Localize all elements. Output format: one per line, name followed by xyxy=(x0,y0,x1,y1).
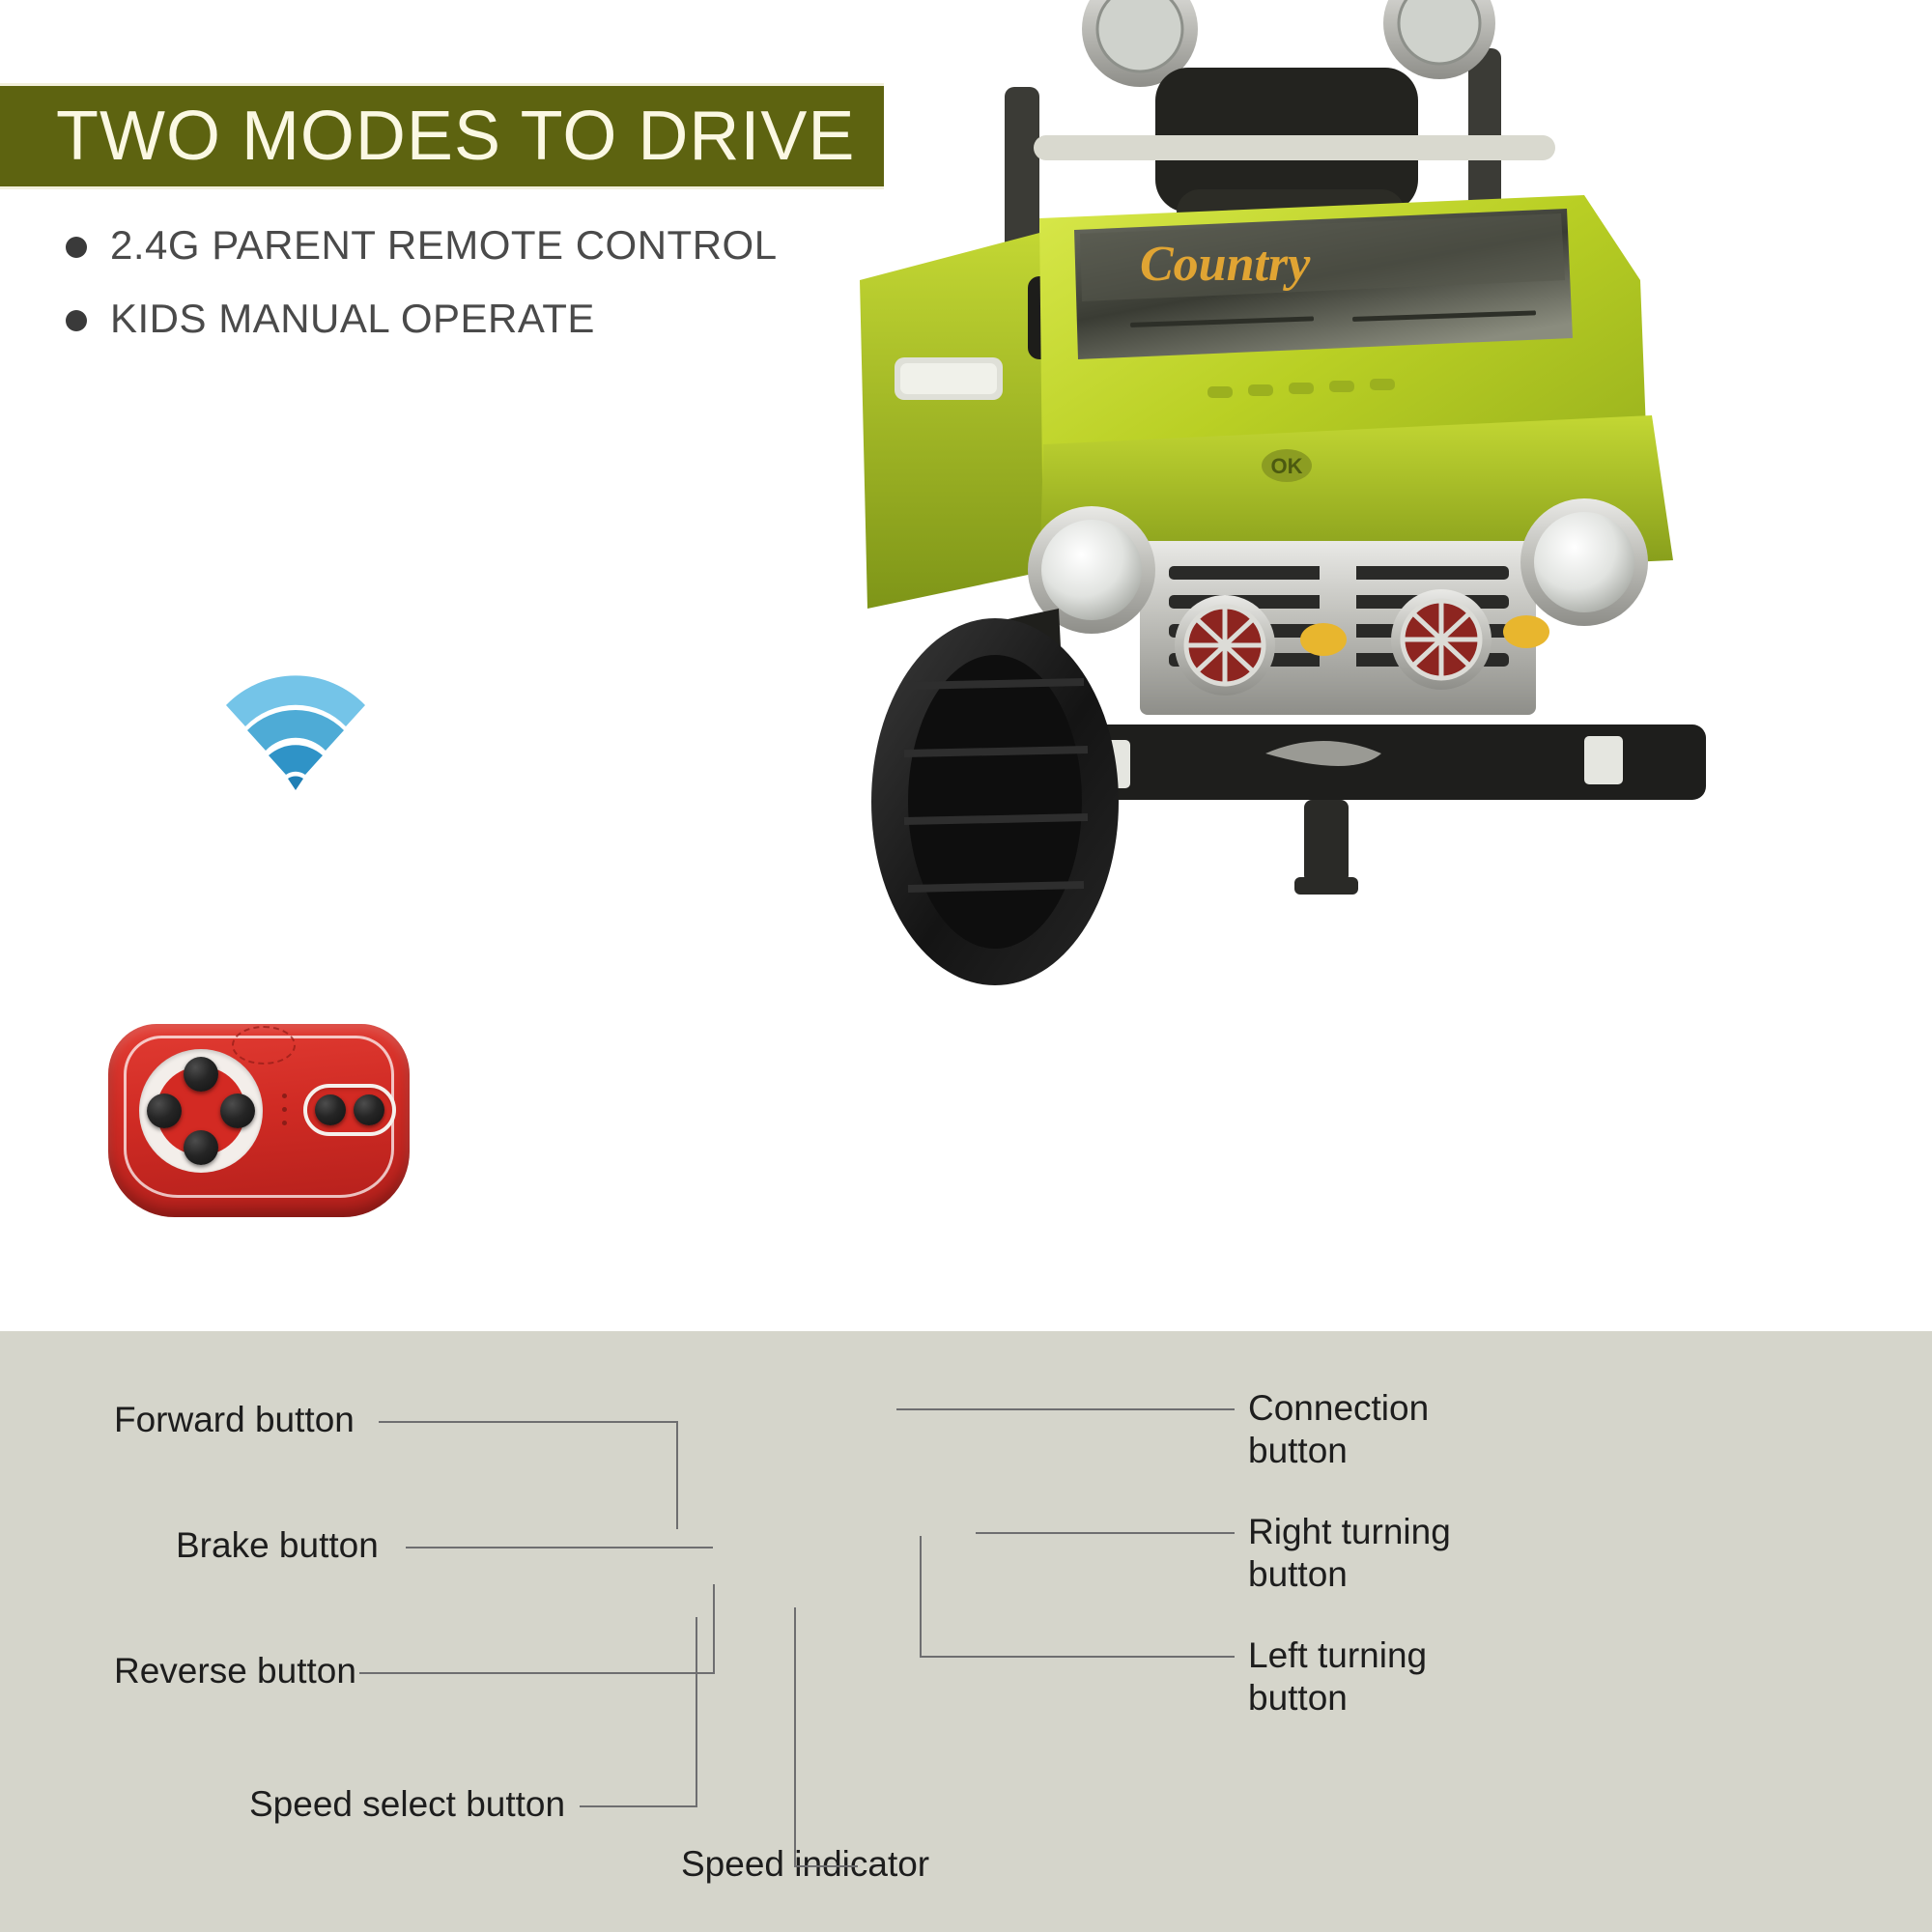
bullet-dot-icon xyxy=(66,310,87,331)
callout-label-left-turning: Left turning button xyxy=(1248,1634,1427,1719)
speed-select-button[interactable] xyxy=(220,1094,255,1128)
leader-line-left-turning-rise xyxy=(920,1536,922,1658)
list-item: 2.4G PARENT REMOTE CONTROL xyxy=(66,222,858,269)
leader-line-forward-drop xyxy=(676,1421,678,1529)
callout-label-right-turning: Right turning button xyxy=(1248,1511,1451,1595)
forward-button[interactable] xyxy=(184,1057,218,1092)
callout-label-connection: Connection button xyxy=(1248,1387,1429,1471)
bullet-dot-icon xyxy=(66,237,87,258)
callout-label-speed-select: Speed select button xyxy=(249,1783,565,1826)
callout-label-forward: Forward button xyxy=(114,1399,355,1441)
feature-label: KIDS MANUAL OPERATE xyxy=(110,296,595,342)
connection-button[interactable] xyxy=(232,1026,296,1065)
hero-section: TWO MODES TO DRIVE 2.4G PARENT REMOTE CO… xyxy=(0,0,1932,1331)
left-turning-button[interactable] xyxy=(315,1094,346,1125)
leader-line-speed-indicator xyxy=(794,1865,858,1867)
leader-line-speed-indicator-rise xyxy=(794,1607,796,1866)
title-banner: TWO MODES TO DRIVE xyxy=(0,83,884,189)
remote-diagram-section: Forward button Brake button Reverse butt… xyxy=(0,1331,1932,1932)
ride-on-jeep-image: Country OK xyxy=(850,0,1932,1043)
right-turning-button[interactable] xyxy=(354,1094,384,1125)
svg-text:Country: Country xyxy=(1140,237,1311,292)
callout-label-reverse: Reverse button xyxy=(114,1650,356,1692)
speed-indicator-dot xyxy=(282,1121,287,1125)
callout-label-brake: Brake button xyxy=(176,1524,379,1567)
speed-indicator-dot xyxy=(282,1094,287,1098)
leader-line-right-turning xyxy=(976,1532,1235,1534)
leader-line-reverse-rise xyxy=(713,1584,715,1673)
leader-line-speed-select xyxy=(580,1805,697,1807)
leader-line-reverse xyxy=(359,1672,715,1674)
leader-line-speed-select-rise xyxy=(696,1617,697,1806)
callout-label-speed-indicator: Speed indicator xyxy=(681,1843,929,1886)
feature-list: 2.4G PARENT REMOTE CONTROL KIDS MANUAL O… xyxy=(66,222,858,369)
leader-line-forward xyxy=(379,1421,678,1423)
list-item: KIDS MANUAL OPERATE xyxy=(66,296,858,342)
speed-indicator-dot xyxy=(282,1107,287,1112)
leader-line-connection xyxy=(896,1408,1235,1410)
feature-label: 2.4G PARENT REMOTE CONTROL xyxy=(110,222,778,269)
reverse-button[interactable] xyxy=(184,1130,218,1165)
wifi-signal-icon xyxy=(218,667,373,792)
remote-control xyxy=(108,1024,410,1217)
leader-line-left-turning xyxy=(920,1656,1235,1658)
svg-text:OK: OK xyxy=(1271,454,1303,478)
page-title: TWO MODES TO DRIVE xyxy=(0,101,855,171)
leader-line-brake xyxy=(406,1547,713,1548)
brake-button[interactable] xyxy=(147,1094,182,1128)
